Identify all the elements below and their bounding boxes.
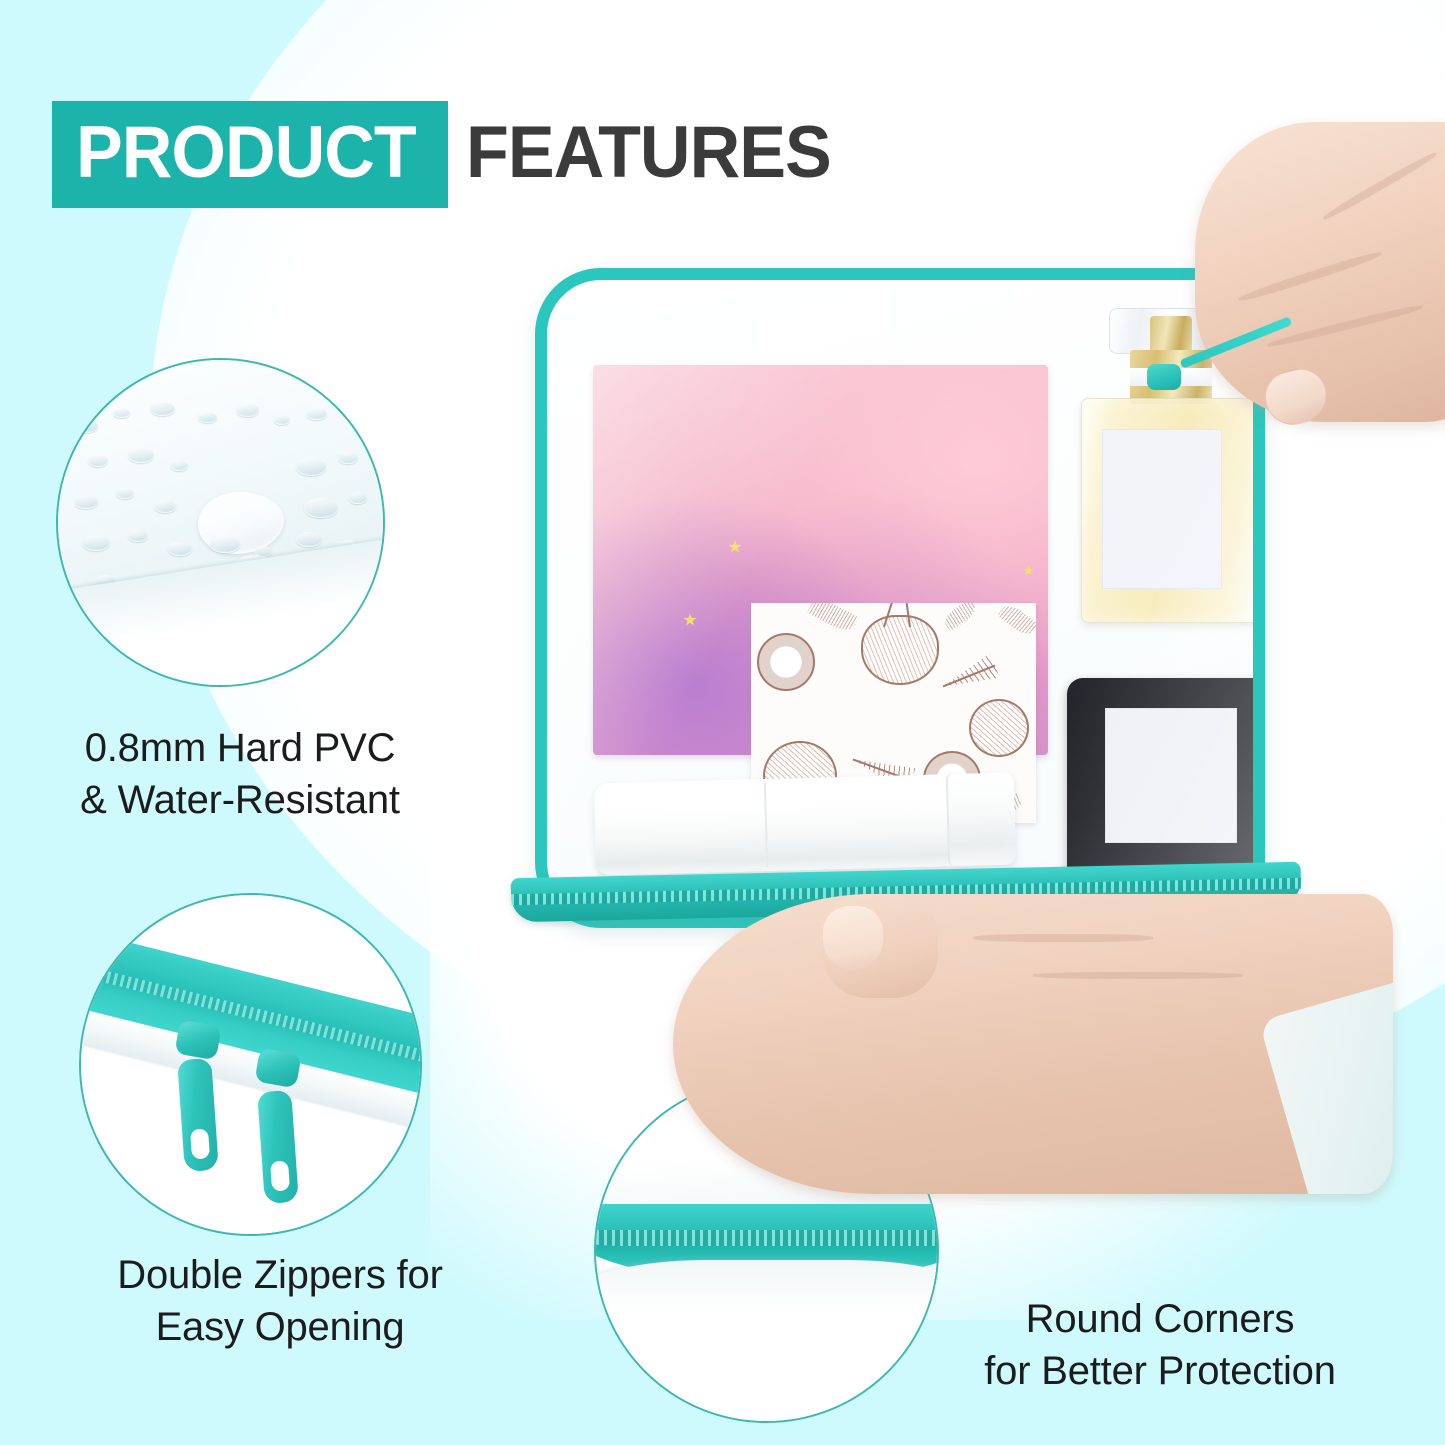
bag-bottom-shell — [594, 1260, 939, 1423]
white-tube-seam — [764, 783, 768, 867]
holding-hand — [673, 894, 1393, 1194]
thumbnail — [823, 906, 883, 970]
shirt-sleeve — [1259, 983, 1393, 1194]
feature-caption-corner: Round Corners for Better Protection — [960, 1293, 1360, 1397]
caption-line-1: 0.8mm Hard PVC — [40, 722, 440, 774]
star-icon — [728, 540, 742, 554]
title-rest-wrap: FEATURES — [448, 101, 846, 208]
caption-line-1: Round Corners — [960, 1293, 1360, 1345]
pink-gradient-pouch — [593, 365, 1048, 755]
zipper-slider-top — [1147, 364, 1181, 390]
product-photo — [505, 240, 1365, 1020]
caption-line-2: Easy Opening — [80, 1301, 480, 1353]
title-highlight-text: PRODUCT — [76, 116, 416, 189]
feature-caption-pvc: 0.8mm Hard PVC & Water-Resistant — [40, 722, 440, 826]
star-icon — [683, 613, 697, 627]
caption-line-1: Double Zippers for — [80, 1249, 480, 1301]
caption-line-2: for Better Protection — [960, 1345, 1360, 1397]
caption-line-2: & Water-Resistant — [40, 774, 440, 826]
page-title: PRODUCT FEATURES — [52, 101, 846, 208]
star-icon — [1023, 565, 1034, 576]
double-zipper-icon — [79, 893, 422, 1236]
title-rest-text: FEATURES — [466, 116, 831, 189]
water-droplets-icon — [56, 358, 385, 687]
black-case-label — [1105, 708, 1237, 843]
feature-caption-zipper: Double Zippers for Easy Opening — [80, 1249, 480, 1353]
white-tube-bottle — [594, 773, 1016, 876]
corner-zipper-teeth — [594, 1230, 939, 1246]
title-highlight-badge: PRODUCT — [52, 101, 448, 208]
perfume-bottle — [1081, 398, 1261, 623]
white-tube-cap — [946, 773, 1016, 867]
perfume-bottle-label — [1102, 429, 1222, 589]
